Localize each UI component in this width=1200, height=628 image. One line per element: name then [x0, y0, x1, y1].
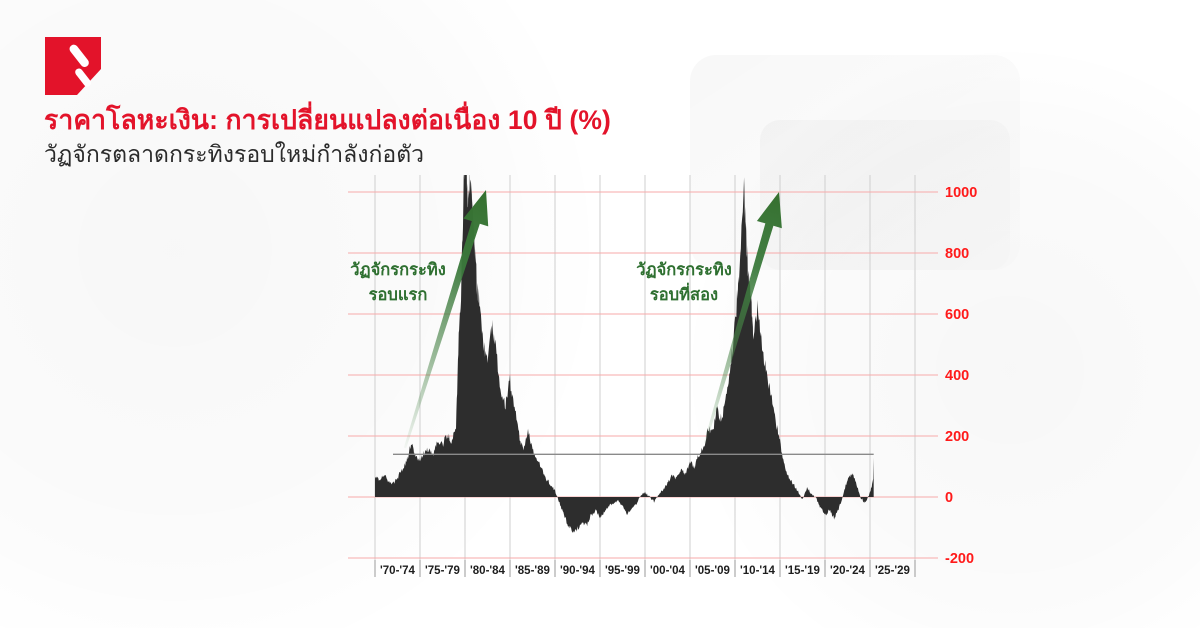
x-axis-tick-label: '05-'09	[695, 565, 730, 577]
x-axis-tick-label: '80-'84	[470, 565, 505, 577]
page-title: ราคาโลหะเงิน: การเปลี่ยนแปลงต่อเนื่อง 10…	[44, 104, 611, 137]
annotation-label-first-bull-cycle: รอบแรก	[369, 286, 428, 304]
area-series-silver	[375, 161, 874, 533]
silver-rolling-change-chart: 10008006004002000-200 '70-'74'75-'79'80-…	[0, 0, 1200, 628]
x-axis-tick-label: '00-'04	[650, 565, 685, 577]
x-axis-tick-label: '10-'14	[740, 565, 775, 577]
x-axis-tick-label: '70-'74	[380, 565, 415, 577]
x-axis-tick-label: '95-'99	[605, 565, 640, 577]
x-axis-tick-label: '85-'89	[515, 565, 550, 577]
x-axis-tick-labels: '70-'74'75-'79'80-'84'85-'89'90-'94'95-'…	[375, 560, 915, 577]
brand-logo-icon	[45, 37, 101, 95]
x-axis-tick-label: '20-'24	[830, 565, 865, 577]
y-axis-tick-label: 200	[945, 429, 969, 445]
x-axis-tick-label: '25-'29	[875, 565, 910, 577]
page-subtitle: วัฏจักรตลาดกระทิงรอบใหม่กำลังก่อตัว	[44, 140, 424, 170]
y-axis-tick-label: 400	[945, 368, 969, 384]
y-axis-tick-labels: 10008006004002000-200	[945, 185, 977, 567]
annotation-label-first-bull-cycle: วัฏจักรกระทิง	[350, 260, 446, 279]
x-axis-tick-label: '75-'79	[425, 565, 460, 577]
y-axis-tick-label: 0	[945, 490, 953, 506]
annotation-label-second-bull-cycle: วัฏจักรกระทิง	[636, 260, 732, 279]
y-axis-tick-label: 600	[945, 307, 969, 323]
x-axis-tick-label: '90-'94	[560, 565, 595, 577]
y-axis-tick-label: 1000	[945, 185, 977, 201]
annotation-label-second-bull-cycle: รอบที่สอง	[650, 282, 718, 304]
y-axis-tick-label: 800	[945, 246, 969, 262]
x-axis-tick-label: '15-'19	[785, 565, 820, 577]
horizontal-gridlines	[348, 192, 938, 558]
y-axis-tick-label: -200	[945, 551, 974, 567]
